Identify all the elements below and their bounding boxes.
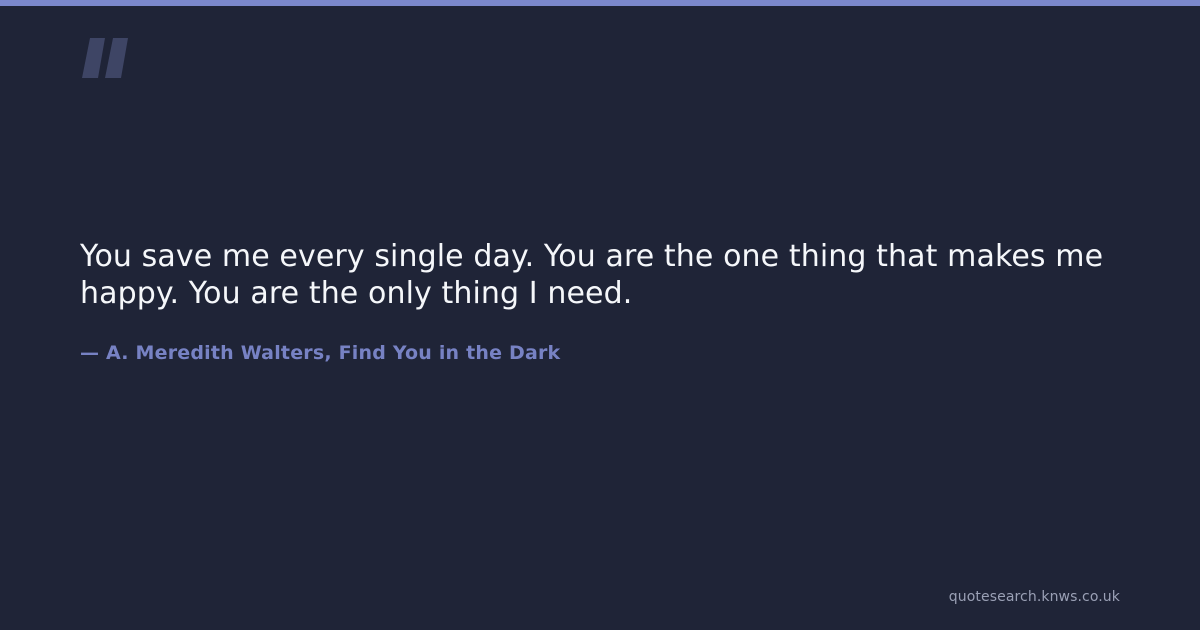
quote-text: You save me every single day. You are th… xyxy=(80,238,1120,312)
top-accent-bar xyxy=(0,0,1200,6)
double-quote-icon xyxy=(78,36,134,80)
quote-card: You save me every single day. You are th… xyxy=(0,0,1200,630)
quote-body: You save me every single day. You are th… xyxy=(80,238,1120,312)
quote-attribution: — A. Meredith Walters, Find You in the D… xyxy=(80,340,560,366)
site-watermark: quotesearch.knws.co.uk xyxy=(949,588,1120,606)
